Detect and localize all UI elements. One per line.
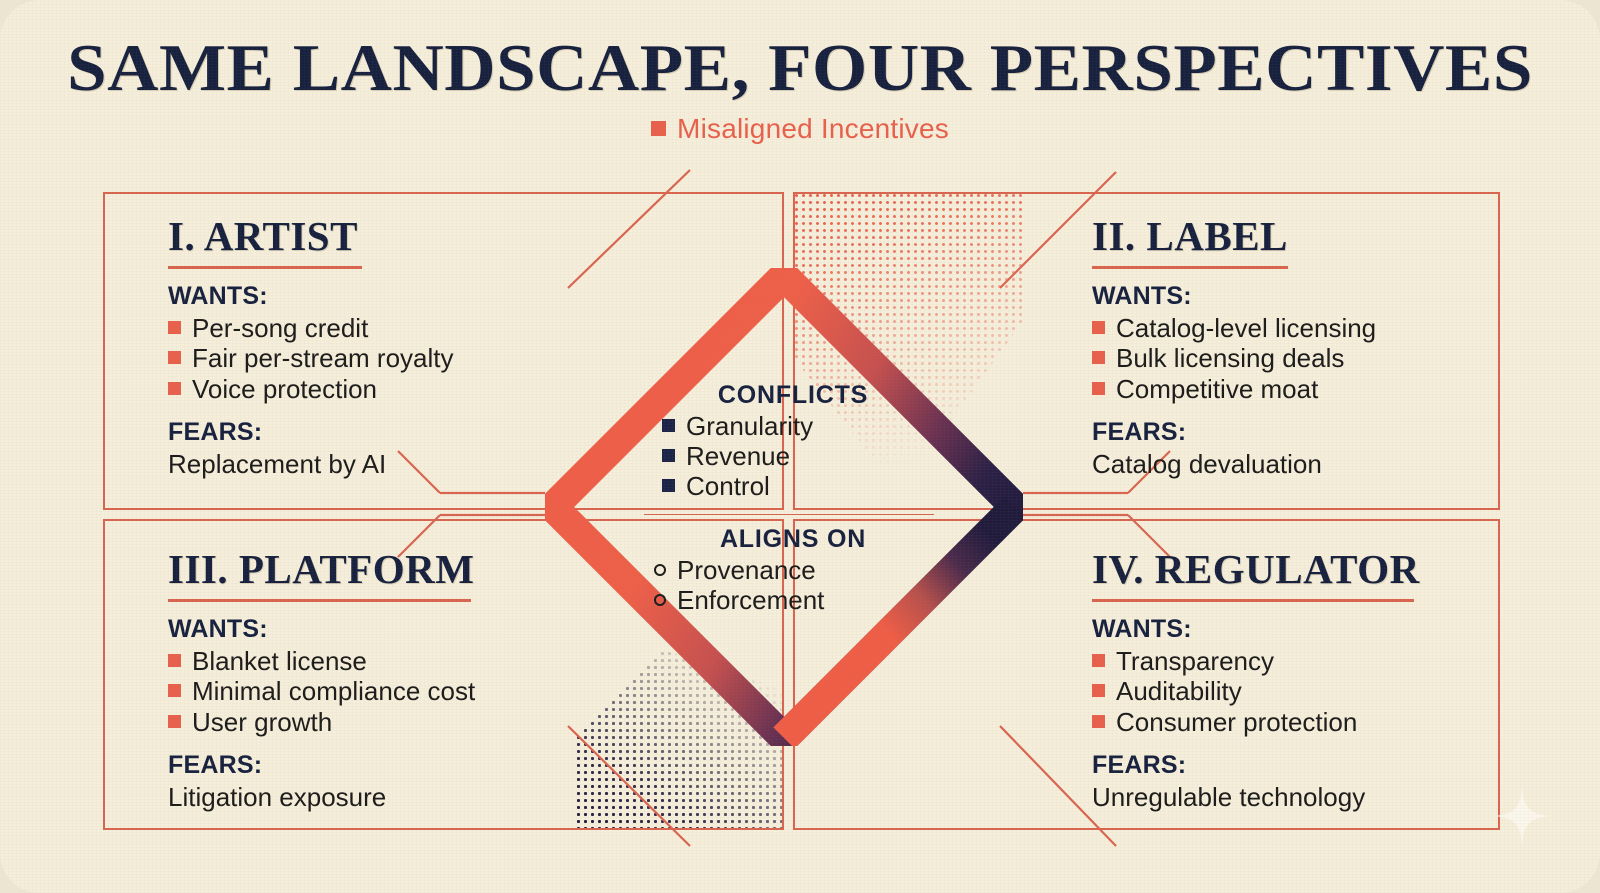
- page-subtitle: Misaligned Incentives: [677, 113, 949, 145]
- quadrant-artist: I. ARTIST WANTS: Per-song credit Fair pe…: [168, 212, 568, 481]
- aligns-heading: ALIGNS ON: [648, 525, 938, 554]
- list-item-label: Bulk licensing deals: [1116, 343, 1344, 374]
- list-item-label: User growth: [192, 707, 332, 738]
- square-bullet-navy-icon: [662, 419, 675, 432]
- list-item-label: Catalog-level licensing: [1116, 313, 1376, 344]
- list-item-label: Consumer protection: [1116, 707, 1357, 738]
- square-bullet-icon: [168, 684, 181, 697]
- circle-bullet-icon: [654, 594, 666, 606]
- fears-text-platform: Litigation exposure: [168, 782, 598, 813]
- list-item-label: Auditability: [1116, 676, 1242, 707]
- list-item: Auditability: [1092, 676, 1512, 707]
- square-bullet-navy-icon: [662, 449, 675, 462]
- square-bullet-icon: [1092, 351, 1105, 364]
- fears-label: FEARS:: [168, 418, 568, 447]
- list-item: Control: [662, 472, 938, 502]
- list-item-label: Competitive moat: [1116, 374, 1318, 405]
- list-item-label: Control: [686, 472, 770, 502]
- wants-label: WANTS:: [168, 282, 568, 311]
- list-item-label: Fair per-stream royalty: [192, 343, 454, 374]
- wants-list-regulator: Transparency Auditability Consumer prote…: [1092, 646, 1512, 739]
- list-item: Enforcement: [654, 586, 938, 616]
- list-item: Bulk licensing deals: [1092, 343, 1512, 374]
- four-point-star-icon: [1496, 787, 1548, 845]
- square-bullet-icon: [651, 121, 666, 136]
- list-item: Competitive moat: [1092, 374, 1512, 405]
- list-item: Blanket license: [168, 646, 598, 677]
- list-item: Voice protection: [168, 374, 568, 405]
- center-content: CONFLICTS Granularity Revenue Control AL…: [648, 381, 938, 616]
- list-item-label: Transparency: [1116, 646, 1274, 677]
- square-bullet-icon: [168, 715, 181, 728]
- list-item: User growth: [168, 707, 598, 738]
- heading-rule: [168, 599, 471, 602]
- quadrant-heading-label: II. LABEL: [1092, 212, 1512, 260]
- wants-list-artist: Per-song credit Fair per-stream royalty …: [168, 313, 568, 406]
- circle-bullet-icon: [654, 564, 666, 576]
- list-item-label: Voice protection: [192, 374, 377, 405]
- square-bullet-icon: [1092, 715, 1105, 728]
- heading-rule: [1092, 599, 1414, 602]
- list-item-label: Provenance: [677, 556, 816, 586]
- square-bullet-icon: [168, 382, 181, 395]
- list-item: Per-song credit: [168, 313, 568, 344]
- list-item-label: Blanket license: [192, 646, 367, 677]
- square-bullet-icon: [168, 351, 181, 364]
- list-item: Minimal compliance cost: [168, 676, 598, 707]
- conflicts-list: Granularity Revenue Control: [648, 412, 938, 502]
- list-item: Revenue: [662, 442, 938, 472]
- list-item: Granularity: [662, 412, 938, 442]
- center-divider: [644, 514, 934, 516]
- aligns-list: Provenance Enforcement: [648, 556, 938, 616]
- wants-label: WANTS:: [168, 615, 598, 644]
- fears-label: FEARS:: [1092, 418, 1512, 447]
- list-item: Transparency: [1092, 646, 1512, 677]
- square-bullet-navy-icon: [662, 479, 675, 492]
- heading-rule: [1092, 266, 1288, 269]
- square-bullet-icon: [1092, 321, 1105, 334]
- fears-text-label: Catalog devaluation: [1092, 449, 1512, 480]
- square-bullet-icon: [1092, 654, 1105, 667]
- heading-rule: [168, 266, 362, 269]
- square-bullet-icon: [168, 321, 181, 334]
- title-block: SAME LANDSCAPE, FOUR PERSPECTIVES Misali…: [0, 34, 1600, 145]
- square-bullet-icon: [1092, 382, 1105, 395]
- wants-label: WANTS:: [1092, 615, 1512, 644]
- quadrant-heading-platform: III. PLATFORM: [168, 545, 598, 593]
- list-item-label: Per-song credit: [192, 313, 368, 344]
- quadrant-heading-artist: I. ARTIST: [168, 212, 568, 260]
- fears-label: FEARS:: [168, 751, 598, 780]
- infographic-canvas: SAME LANDSCAPE, FOUR PERSPECTIVES Misali…: [0, 0, 1600, 893]
- list-item-label: Revenue: [686, 442, 790, 472]
- subtitle-row: Misaligned Incentives: [0, 113, 1600, 145]
- list-item: Catalog-level licensing: [1092, 313, 1512, 344]
- quadrant-label: II. LABEL WANTS: Catalog-level licensing…: [1092, 212, 1512, 481]
- fears-label: FEARS:: [1092, 751, 1512, 780]
- quadrant-platform: III. PLATFORM WANTS: Blanket license Min…: [168, 545, 598, 814]
- fears-text-regulator: Unregulable technology: [1092, 782, 1512, 813]
- quadrant-heading-regulator: IV. REGULATOR: [1092, 545, 1512, 593]
- quadrant-regulator: IV. REGULATOR WANTS: Transparency Audita…: [1092, 545, 1512, 814]
- square-bullet-icon: [1092, 684, 1105, 697]
- list-item-label: Minimal compliance cost: [192, 676, 475, 707]
- conflicts-heading: CONFLICTS: [648, 381, 938, 410]
- page-title: SAME LANDSCAPE, FOUR PERSPECTIVES: [0, 34, 1600, 104]
- list-item: Consumer protection: [1092, 707, 1512, 738]
- list-item-label: Granularity: [686, 412, 813, 442]
- wants-list-label: Catalog-level licensing Bulk licensing d…: [1092, 313, 1512, 406]
- square-bullet-icon: [168, 654, 181, 667]
- fears-text-artist: Replacement by AI: [168, 449, 568, 480]
- wants-label: WANTS:: [1092, 282, 1512, 311]
- wants-list-platform: Blanket license Minimal compliance cost …: [168, 646, 598, 739]
- list-item: Fair per-stream royalty: [168, 343, 568, 374]
- list-item: Provenance: [654, 556, 938, 586]
- list-item-label: Enforcement: [677, 586, 824, 616]
